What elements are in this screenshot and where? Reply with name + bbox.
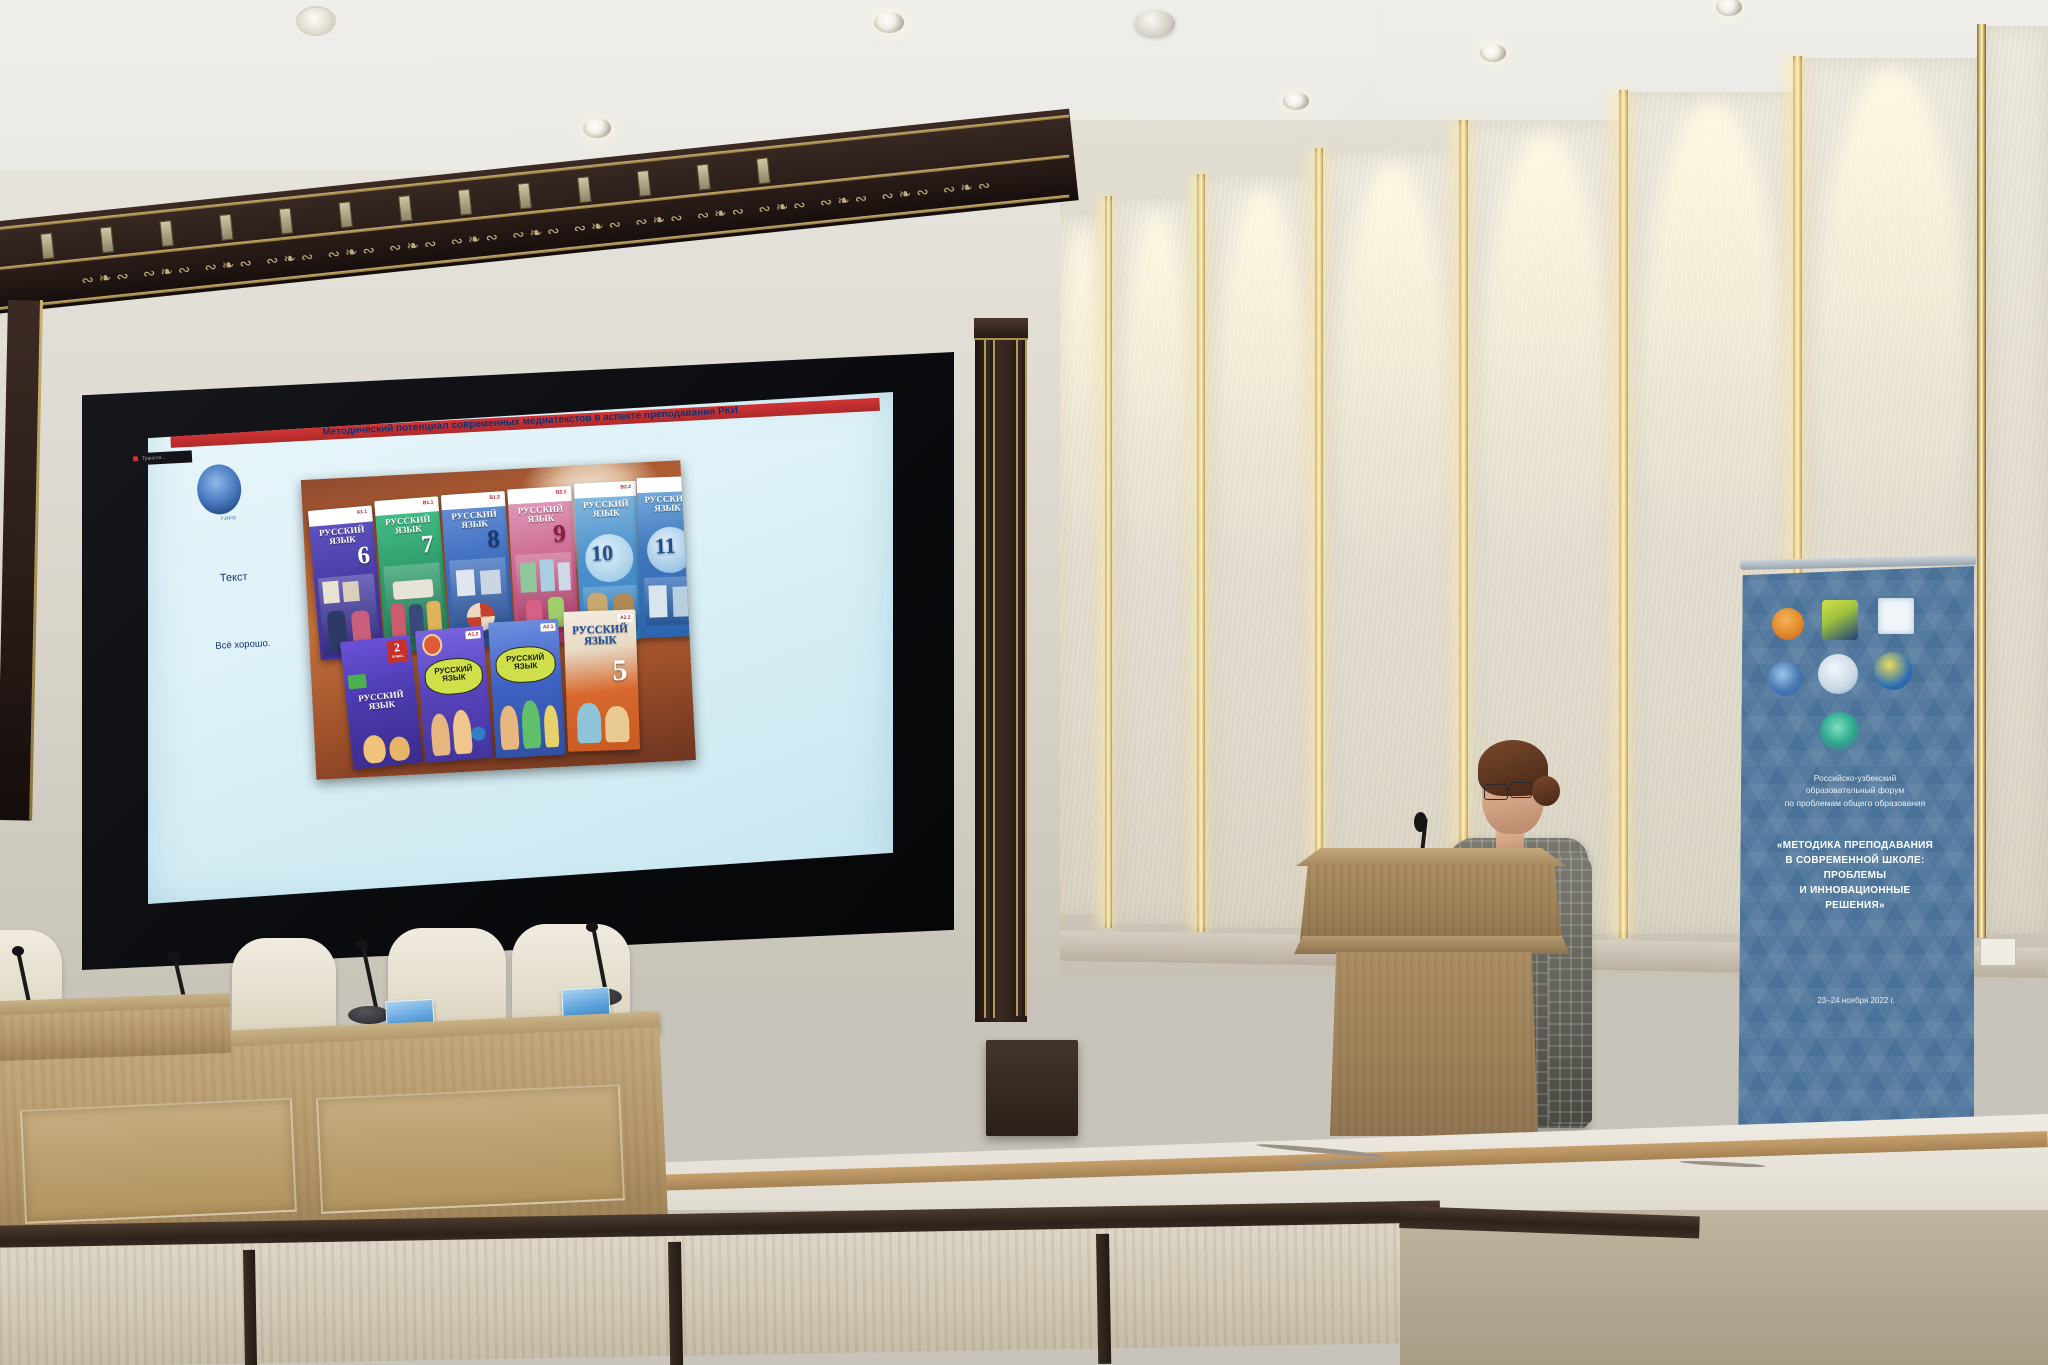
presidium-mic-head-3	[356, 940, 368, 950]
banner-title-line-2: В СОВРЕМЕННОЙ ШКОЛЕ:	[1748, 853, 1962, 868]
ornament-rosette-logo	[1820, 712, 1860, 752]
speaker-glasses-left-lens	[1484, 784, 1508, 800]
podium-molding	[1294, 936, 1570, 954]
blue-seal-logo	[1768, 662, 1802, 696]
book-grade-3: А1.2 РУССКИЙЯЗЫК	[415, 626, 493, 763]
banner-title-line-4: И ИННОВАЦИОННЫЕ	[1748, 883, 1962, 898]
projection-screen-surface[interactable]: Методический потенциал современных медиа…	[148, 392, 893, 904]
presidium-table-panel-1	[20, 1098, 297, 1224]
podium-column	[1330, 952, 1538, 1136]
floor-speaker-box	[986, 1040, 1078, 1136]
uzbekistan-emblem-logo	[1772, 608, 1804, 640]
banner-subtitle-line-3: по проблемам общего образования	[1752, 797, 1958, 809]
banner-dates: 23–24 ноября 2022 г.	[1750, 996, 1962, 1005]
emblem-caption: ГИРЯ	[209, 515, 249, 523]
column-fluting-right	[1013, 336, 1027, 1016]
stage-front-panels	[0, 1223, 1442, 1365]
ceiling-downlight-1	[296, 6, 336, 36]
banner-logo-row-2	[1762, 652, 1952, 704]
slide-root: Методический потенциал современных медиа…	[148, 353, 919, 903]
slide-label-tekst: Текст	[220, 571, 248, 584]
ceiling-downlight-6	[1283, 92, 1309, 110]
presidium-mic-head-1	[12, 946, 24, 956]
taskbar-label: Трансля…	[142, 455, 167, 462]
smoke-detector-icon	[1135, 10, 1175, 36]
slide-label-vsyo-horosho: Всё хорошо.	[215, 638, 271, 652]
book-grade-2: 2 класс РУССКИЙЯЗЫК	[340, 635, 423, 770]
book-grade-5: А2.2 РУССКИЙЯЗЫК 5	[563, 609, 640, 751]
stage-panel-divider-3	[1096, 1234, 1111, 1364]
side-table-front	[0, 1007, 231, 1062]
banner-title: «МЕТОДИКА ПРЕПОДАВАНИЯ В СОВРЕМЕННОЙ ШКО…	[1748, 838, 1962, 913]
wall-gold-trim-8	[1977, 24, 1986, 938]
textbook-photo: А1.1 РУССКИЙЯЗЫК 6 В1.1 РУССКИЙЯЗЫК 7	[301, 460, 696, 779]
globe-dove-logo	[1874, 652, 1912, 690]
presidium-mic-head-2	[168, 952, 180, 962]
book-grade-11: В2.3 РУССКИЙЯЗЫК 11	[636, 476, 696, 638]
conference-hall-photo: ∾❧∾ ∾❧∾ ∾❧∾ ∾❧∾ ∾❧∾ ∾❧∾ ∾❧∾ ∾❧∾ ∾❧∾ ∾❧∾ …	[0, 0, 2048, 1365]
ceiling-downlight-4	[874, 12, 904, 33]
banner-title-line-5: РЕШЕНИЯ»	[1748, 898, 1962, 913]
podium-microphone-head	[1414, 812, 1427, 832]
book-grade-6: А1.1 РУССКИЙЯЗЫК 6	[308, 505, 385, 660]
wall-gold-glow-3	[1184, 174, 1214, 932]
rollup-banner: Российско-узбекский образовательный фору…	[1738, 566, 1974, 1174]
book-grade-4: А2.1 РУССКИЙЯЗЫК	[488, 619, 566, 759]
wall-socket	[1980, 938, 2016, 966]
presidium-mic-base-3	[348, 1006, 390, 1024]
banner-title-line-3: ПРОБЛЕМЫ	[1748, 868, 1962, 883]
book-leaf-logo	[1822, 600, 1858, 640]
speaker-glasses-right-lens	[1510, 782, 1532, 798]
wall-gold-glow-2	[1092, 196, 1120, 928]
banner-logo-row-1	[1762, 598, 1952, 648]
wall-gold-glow-4	[1301, 148, 1333, 936]
banner-subtitle-line-1: Российско-узбекский	[1752, 772, 1958, 784]
ceiling-downlight-2	[583, 118, 611, 138]
presidium-mic-head-4	[586, 922, 598, 932]
white-square-logo	[1878, 598, 1914, 634]
column-fluting-left	[981, 338, 995, 1018]
presidium-table-panel-2	[316, 1084, 625, 1214]
column-capital	[974, 318, 1028, 340]
institute-emblem-icon	[196, 463, 243, 515]
ministry-circle-logo	[1818, 654, 1858, 694]
stage-panel-divider-1	[243, 1250, 257, 1365]
speaker-hair-bun	[1532, 776, 1560, 806]
banner-subtitle-line-2: образовательный форум	[1752, 784, 1958, 796]
banner-subtitle: Российско-узбекский образовательный фору…	[1752, 772, 1958, 809]
podium-upper	[1300, 864, 1562, 940]
ceiling-downlight-7	[1480, 44, 1506, 62]
podium-top	[1296, 848, 1566, 866]
speaker-glasses-bridge	[1505, 788, 1511, 790]
stage-panel-divider-2	[668, 1242, 683, 1365]
wall-panel-8	[1986, 26, 2048, 934]
auditorium-floor	[1400, 1210, 2048, 1365]
banner-title-line-1: «МЕТОДИКА ПРЕПОДАВАНИЯ	[1748, 838, 1962, 853]
